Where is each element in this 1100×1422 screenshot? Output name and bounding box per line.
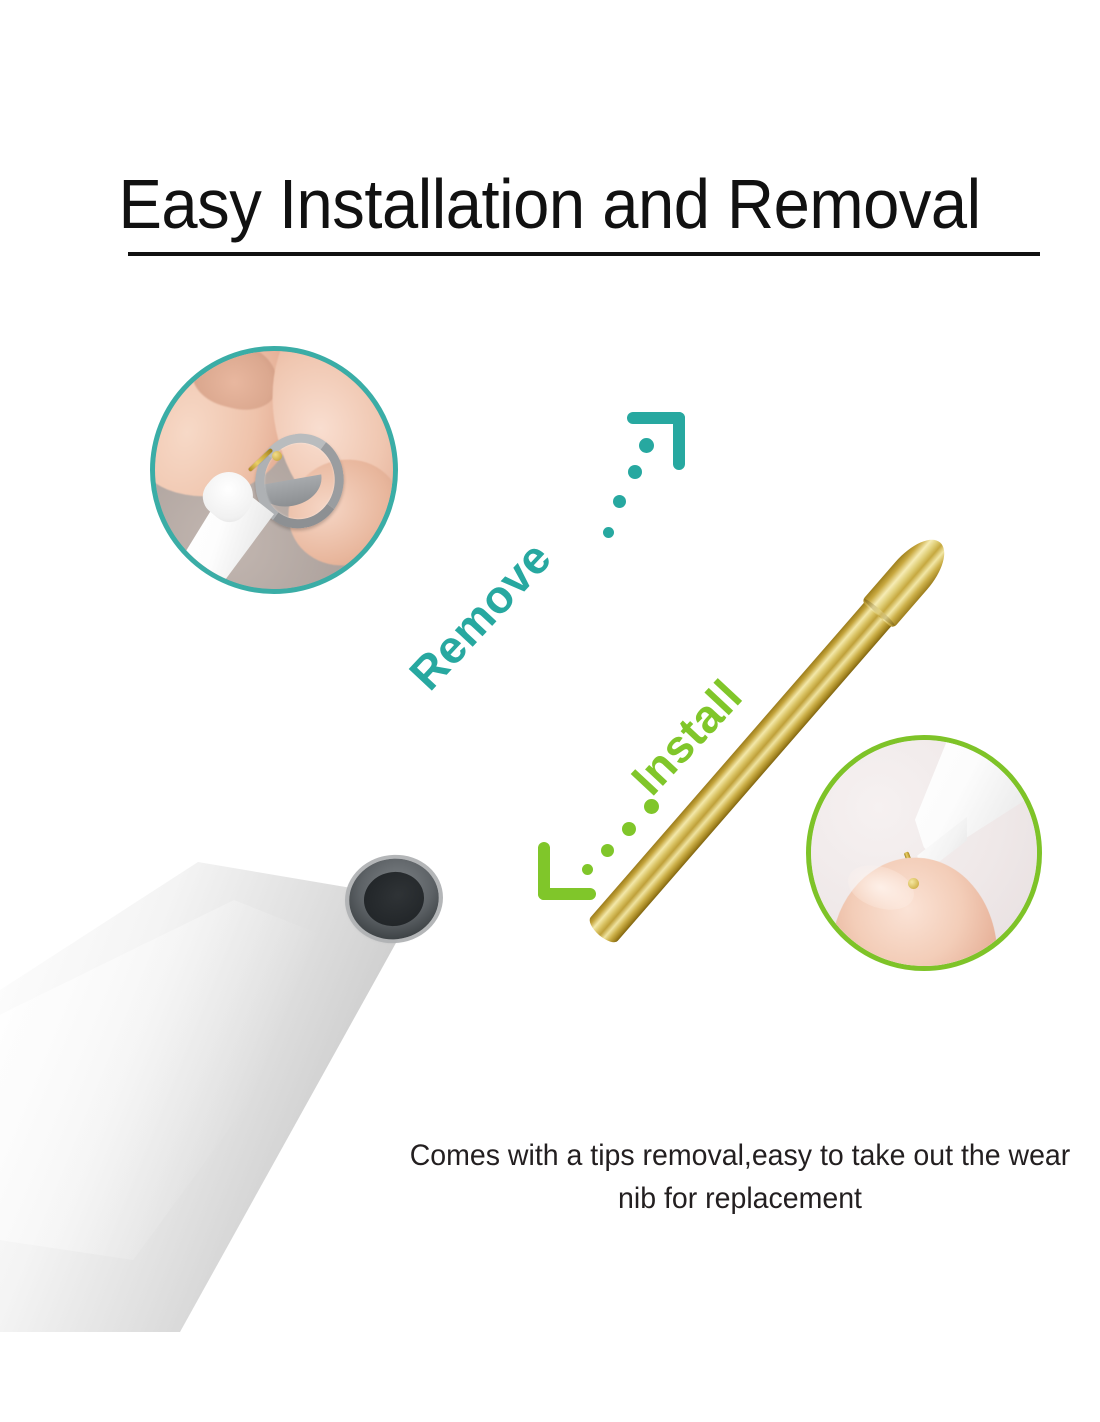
remove-photo-circle: [150, 346, 398, 594]
install-callout-dot-1: [644, 799, 659, 814]
stylus-body: [0, 862, 420, 1332]
install-photo-gold-nib-head: [908, 878, 919, 889]
install-bracket-arm-horizontal: [538, 888, 596, 900]
caption-block: Comes with a tips removal,easy to take o…: [398, 1135, 1082, 1220]
remove-callout-bracket: [627, 412, 685, 470]
install-callout-bracket: [538, 842, 596, 900]
remove-photo-gold-nib-head: [272, 451, 282, 461]
caption-line-1: Comes with a tips removal,easy to take o…: [398, 1135, 1082, 1178]
install-photo-circle: [806, 735, 1042, 971]
install-callout-dot-3: [601, 844, 614, 857]
page-title: Easy Installation and Removal: [119, 168, 981, 242]
caption-line-2: nib for replacement: [398, 1178, 1082, 1221]
remove-bracket-arm-vertical: [673, 412, 685, 470]
product-infographic: Easy Installation and Removal: [0, 0, 1100, 1422]
install-photo-inner: [811, 740, 1037, 966]
remove-callout-dot-1: [603, 527, 614, 538]
remove-callout-label: Remove: [398, 531, 562, 701]
page-title-wrap: Easy Installation and Removal: [0, 168, 1100, 242]
title-underline-rule: [128, 252, 1040, 256]
remove-photo-inner: [155, 351, 393, 589]
remove-callout-dot-2: [613, 495, 626, 508]
install-callout-dot-2: [622, 822, 636, 836]
gold-tool-cap: [861, 529, 956, 629]
